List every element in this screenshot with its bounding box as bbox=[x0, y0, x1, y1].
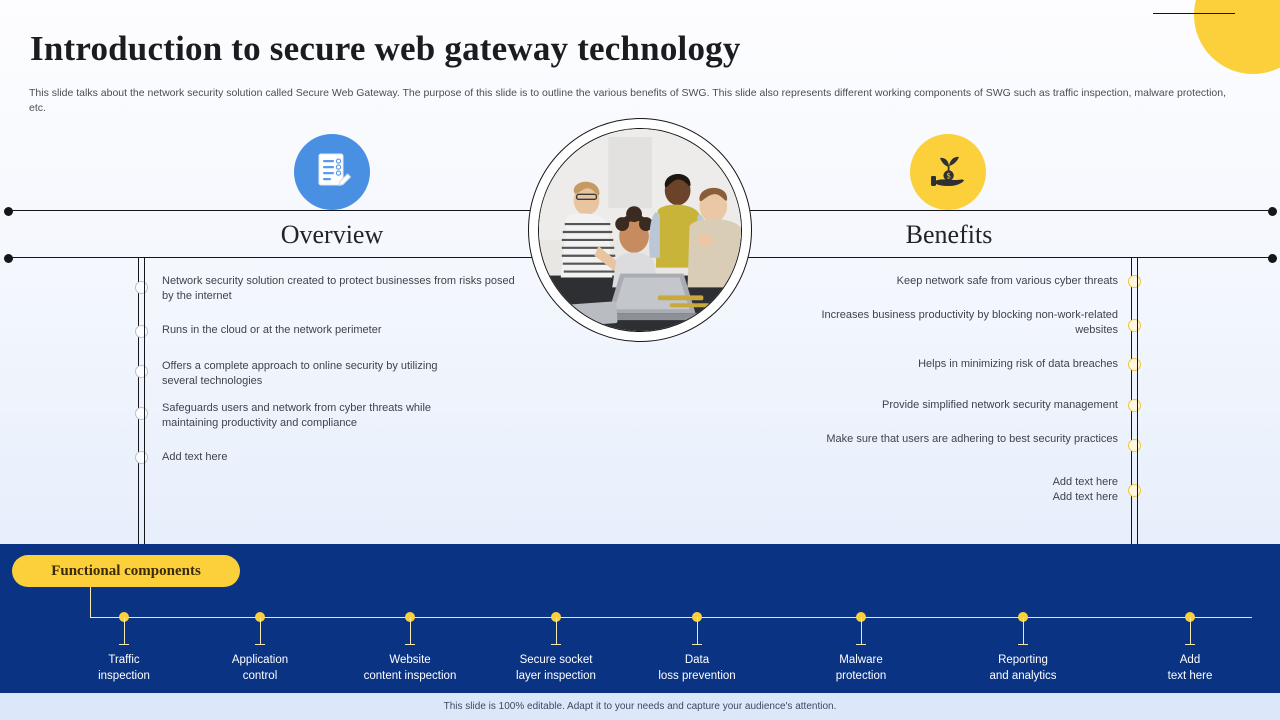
list-item: Provide simplified network security mana… bbox=[800, 398, 1118, 413]
component-stem bbox=[1190, 617, 1191, 645]
overview-icon-badge bbox=[294, 134, 370, 210]
benefits-node bbox=[1128, 399, 1141, 412]
benefits-heading: Benefits bbox=[829, 220, 1069, 250]
component-label: Add text here bbox=[1105, 652, 1275, 684]
component-foot bbox=[551, 644, 561, 645]
overview-node bbox=[135, 407, 148, 420]
component-stem bbox=[697, 617, 698, 645]
center-photo bbox=[538, 128, 742, 332]
list-item: Add text here Add text here bbox=[800, 475, 1118, 504]
component-label: Application control bbox=[175, 652, 345, 684]
overview-heading: Overview bbox=[212, 220, 452, 250]
component-foot bbox=[119, 644, 129, 645]
list-item: Make sure that users are adhering to bes… bbox=[800, 432, 1118, 447]
page-title: Introduction to secure web gateway techn… bbox=[30, 29, 741, 69]
component-stem bbox=[556, 617, 557, 645]
component-foot bbox=[405, 644, 415, 645]
list-item: Increases business productivity by block… bbox=[800, 308, 1118, 337]
overview-node bbox=[135, 365, 148, 378]
overview-node bbox=[135, 325, 148, 338]
component-foot bbox=[856, 644, 866, 645]
component-stem bbox=[124, 617, 125, 645]
benefits-node bbox=[1128, 484, 1141, 497]
svg-text:$: $ bbox=[947, 171, 951, 180]
pill-connector-line bbox=[90, 587, 91, 618]
benefits-node bbox=[1128, 319, 1141, 332]
corner-line-decoration bbox=[1153, 13, 1235, 14]
component-foot bbox=[692, 644, 702, 645]
list-item: Runs in the cloud or at the network peri… bbox=[162, 323, 522, 338]
benefits-node bbox=[1128, 439, 1141, 452]
list-item: Add text here bbox=[162, 450, 462, 465]
component-foot bbox=[1018, 644, 1028, 645]
rule-end-dot-left bbox=[4, 207, 13, 216]
benefits-node bbox=[1128, 275, 1141, 288]
component-stem bbox=[260, 617, 261, 645]
overview-rail bbox=[138, 257, 145, 544]
slide-canvas: Introduction to secure web gateway techn… bbox=[0, 0, 1280, 720]
checklist-document-pencil-icon bbox=[310, 148, 354, 197]
overview-node bbox=[135, 281, 148, 294]
hand-holding-money-plant-icon: $ bbox=[925, 147, 971, 198]
component-stem bbox=[410, 617, 411, 645]
rule-end-dot-right bbox=[1268, 207, 1277, 216]
list-item: Keep network safe from various cyber thr… bbox=[800, 274, 1118, 289]
component-foot bbox=[255, 644, 265, 645]
list-item: Network security solution created to pro… bbox=[162, 274, 522, 303]
list-item: Safeguards users and network from cyber … bbox=[162, 401, 467, 430]
component-foot bbox=[1185, 644, 1195, 645]
component-label: Reporting and analytics bbox=[938, 652, 1108, 684]
component-label: Data loss prevention bbox=[612, 652, 782, 684]
corner-circle-decoration bbox=[1194, 0, 1280, 74]
rule-end-dot-right bbox=[1268, 254, 1277, 263]
footer-note: This slide is 100% editable. Adapt it to… bbox=[0, 693, 1280, 720]
benefits-node bbox=[1128, 358, 1141, 371]
component-stem bbox=[861, 617, 862, 645]
benefits-icon-badge: $ bbox=[910, 134, 986, 210]
page-subtitle: This slide talks about the network secur… bbox=[29, 86, 1237, 116]
list-item: Offers a complete approach to online sec… bbox=[162, 359, 472, 388]
overview-node bbox=[135, 451, 148, 464]
list-item: Helps in minimizing risk of data breache… bbox=[800, 357, 1118, 372]
component-label: Malware protection bbox=[776, 652, 946, 684]
functional-components-pill: Functional components bbox=[12, 555, 240, 587]
component-label: Website content inspection bbox=[325, 652, 495, 684]
rule-end-dot-left bbox=[4, 254, 13, 263]
benefits-rail bbox=[1131, 257, 1138, 544]
component-stem bbox=[1023, 617, 1024, 645]
